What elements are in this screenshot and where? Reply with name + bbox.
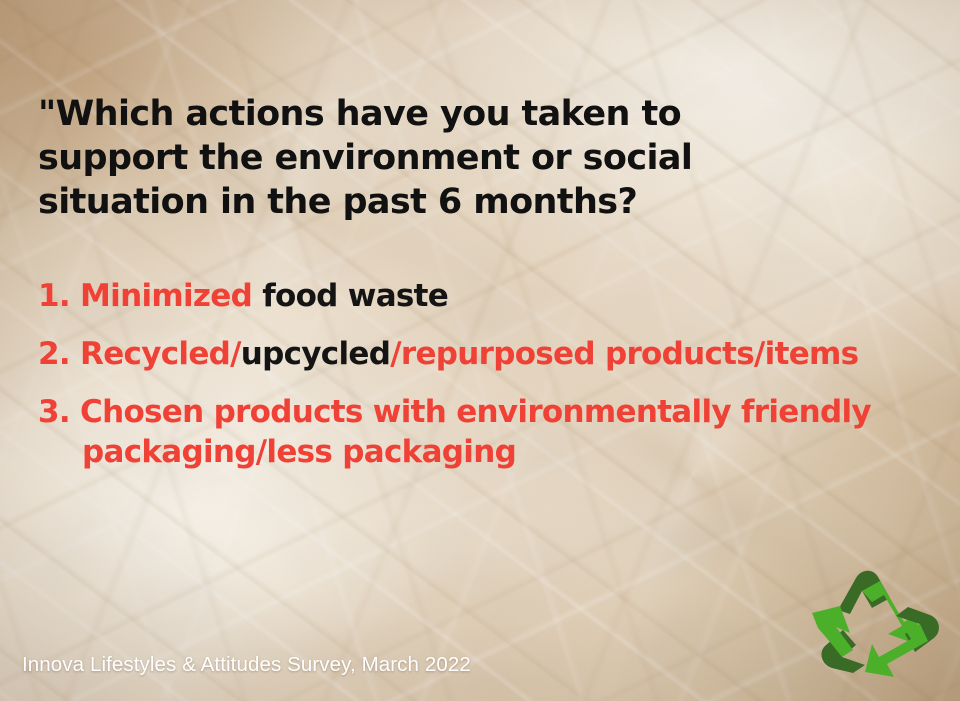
list-item: 2. Recycled/upcycled/repurposed products… bbox=[38, 334, 938, 374]
page-title: "Which actions have you taken to support… bbox=[38, 92, 808, 224]
answers-list: 1. Minimized food waste 2. Recycled/upcy… bbox=[38, 276, 938, 490]
recycling-symbol-icon bbox=[812, 562, 948, 680]
answer-3-segment-accent: 3. Chosen products with environmentally … bbox=[38, 394, 871, 470]
answer-2-segment-accent-1: 2. Recycled/ bbox=[38, 336, 241, 372]
slide-canvas: "Which actions have you taken to support… bbox=[0, 0, 960, 701]
answer-2-segment-accent-2: /repurposed products/items bbox=[390, 336, 858, 372]
answer-1-segment-emphasis: food waste bbox=[262, 278, 448, 314]
recycle-arrow-top bbox=[838, 571, 918, 644]
list-item: 1. Minimized food waste bbox=[38, 276, 938, 316]
recycle-arrow-right bbox=[865, 607, 939, 677]
recycle-arrow-left bbox=[812, 606, 865, 673]
answer-1-segment-accent: 1. Minimized bbox=[38, 278, 262, 314]
source-citation: Innova Lifestyles & Attitudes Survey, Ma… bbox=[22, 653, 471, 677]
slide-content: "Which actions have you taken to support… bbox=[0, 0, 960, 701]
list-item: 3. Chosen products with environmentally … bbox=[38, 392, 938, 472]
answer-2-segment-emphasis: upcycled bbox=[241, 336, 390, 372]
